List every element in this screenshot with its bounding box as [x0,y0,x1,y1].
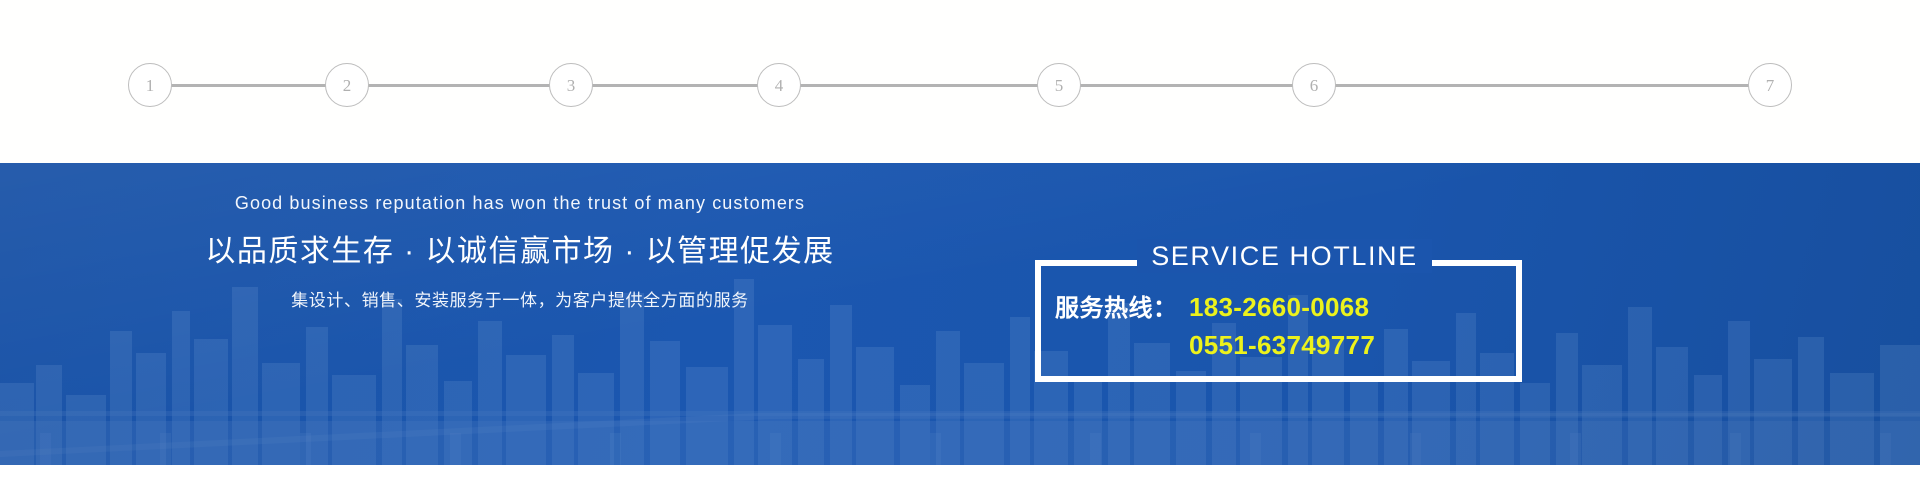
slogan-english-line: Good business reputation has won the tru… [0,193,1040,214]
stepper-step-label: 2 [343,77,352,94]
hotline-label: 服务热线： [1055,288,1189,323]
stepper-connector-line [150,84,1770,87]
stepper-step-5[interactable]: 5 [1037,63,1081,107]
hotline-row-primary: 服务热线： 183-2660-0068 [1055,288,1528,326]
promo-banner: Good business reputation has won the tru… [0,163,1920,465]
stepper-step-label: 4 [775,77,784,94]
stepper-step-2[interactable]: 2 [325,63,369,107]
stepper-step-label: 6 [1310,77,1319,94]
hotline-phone-number-primary[interactable]: 183-2660-0068 [1189,292,1369,323]
page-bottom-whitespace [0,465,1920,500]
stepper-step-7[interactable]: 7 [1748,63,1792,107]
stepper-step-label: 3 [567,77,576,94]
stepper-step-3[interactable]: 3 [549,63,593,107]
slogan-main-line: 以品质求生存 · 以诚信赢市场 · 以管理促发展 [0,226,1040,270]
slogan-block: Good business reputation has won the tru… [0,193,1040,311]
step-progress-bar: 1 2 3 4 5 6 7 [0,0,1920,163]
service-hotline-box: SERVICE HOTLINE 服务热线： 183-2660-0068 服务热线… [1035,260,1522,382]
stepper-step-label: 1 [146,77,155,94]
stepper-step-4[interactable]: 4 [757,63,801,107]
stepper-step-label: 5 [1055,77,1064,94]
stepper-step-label: 7 [1766,77,1775,94]
hotline-row-secondary: 服务热线： 0551-63749777 [1055,326,1528,364]
stepper-step-1[interactable]: 1 [128,63,172,107]
hotline-phone-number-secondary[interactable]: 0551-63749777 [1189,330,1375,361]
hotline-number-list: 服务热线： 183-2660-0068 服务热线： 0551-63749777 [1041,288,1528,364]
stepper-step-6[interactable]: 6 [1292,63,1336,107]
page-root: 1 2 3 4 5 6 7 [0,0,1920,500]
slogan-sub-line: 集设计、销售、安装服务于一体，为客户提供全方面的服务 [0,286,1040,311]
